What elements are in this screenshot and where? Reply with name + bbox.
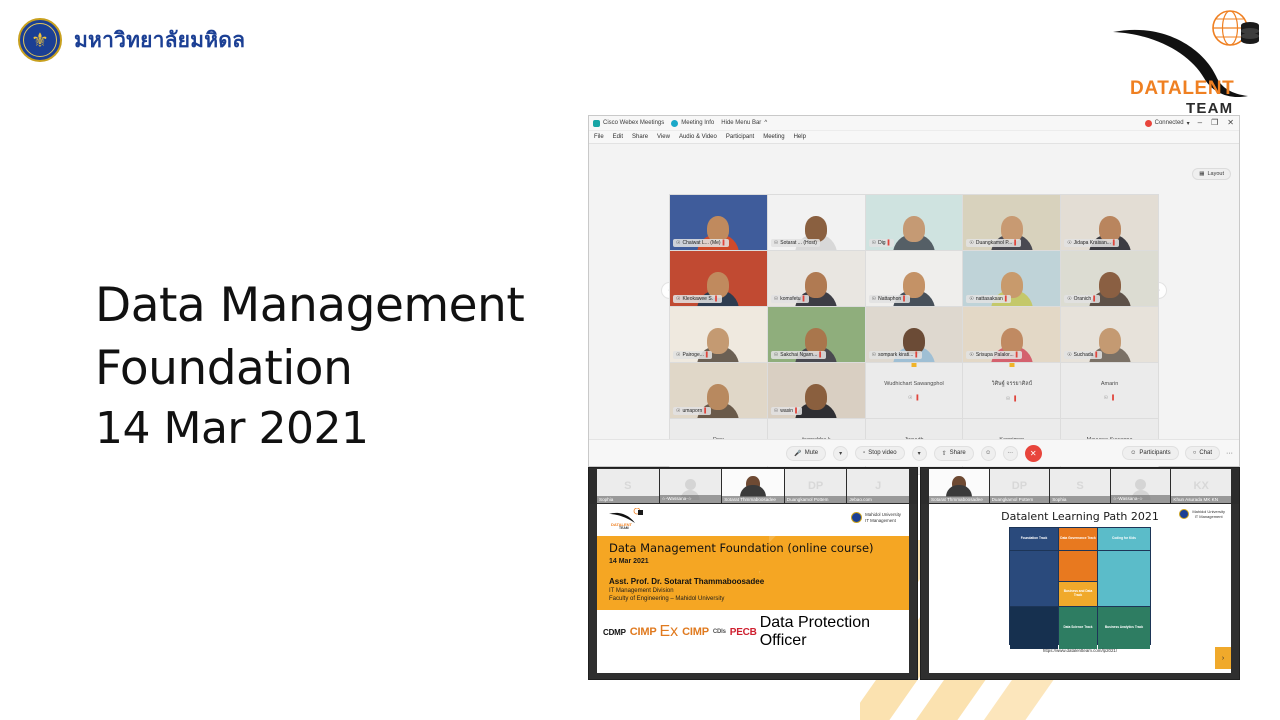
toolbar-more-icon[interactable]: ··· (1226, 450, 1233, 457)
diagram-data-science-track: Data Science Track (1059, 607, 1097, 649)
warning-flag-icon (1009, 363, 1014, 367)
menu-item-participant[interactable]: Participant (726, 134, 754, 140)
video-tile[interactable]: วิศิษฐ์ จรรยาศิลป์☉▌ (963, 363, 1060, 418)
menu-item-help[interactable]: Help (794, 134, 806, 140)
mu-line-2-right: IT Management (1192, 514, 1225, 519)
filmstrip-thumb[interactable]: SSophia (1050, 469, 1110, 503)
microphone-icon: ☉ (774, 352, 778, 358)
thumb-name: ☆-Wassana-☆ (1111, 495, 1171, 503)
microphone-icon: ☉ (1104, 395, 1108, 401)
chat-button[interactable]: ○ Chat (1185, 446, 1220, 460)
tile-nameplate: ☉komsfetu▌ (771, 295, 809, 303)
mute-options-caret[interactable]: ▾ (833, 446, 848, 461)
filmstrip-thumb[interactable]: Sotarat Thmmaboosadee (722, 469, 784, 503)
thumb-name: Sophia (1050, 496, 1110, 503)
tile-person-head (1099, 272, 1121, 298)
avatar: DP (1012, 480, 1027, 492)
learning-path-diagram: Foundation Track Data Governance Track C… (1009, 527, 1151, 645)
tile-status-icons: ☉▌ (908, 395, 920, 401)
mahidol-university-logo: ⚜ มหาวิทยาลัยมหิดล (18, 18, 245, 62)
video-tile[interactable]: ☉sompark kirati...▌ (866, 307, 963, 362)
slide-left-header: DATALENT TEAM Mahidol University IT Mana… (597, 504, 909, 536)
microphone-icon: ☉ (969, 240, 973, 246)
participant-name: Nattaphon (878, 296, 901, 302)
diagram-foundation-track: Foundation Track (1010, 528, 1058, 550)
microphone-icon: ☉ (676, 408, 680, 414)
participant-filmstrip-left: SSophia☆-Wassana-☆Sotarat ThmmaboosadeeD… (589, 468, 917, 504)
webex-menubar: File Edit Share View Audio & Video Parti… (589, 131, 1239, 144)
tile-nameplate: ☉Pairoge...▌ (673, 351, 712, 359)
microphone-icon: ☉ (969, 296, 973, 302)
participant-name: sompark kirati... (878, 352, 913, 358)
muted-icon: ▌ (1112, 395, 1116, 401)
video-tile[interactable]: ☉Suchada▌ (1061, 307, 1158, 362)
tile-person-head (707, 216, 729, 242)
tile-nameplate: ☉Sakchai Ngarn...▌ (771, 351, 826, 359)
video-tile[interactable]: Wudhichart Sawangphol☉▌ (866, 363, 963, 418)
avatar: DP (808, 480, 823, 492)
thumb-name: Duangkamol Pottem (785, 496, 847, 503)
video-tile[interactable]: ☉umaporn▌ (670, 363, 767, 418)
slide-next-button[interactable]: › (1215, 647, 1231, 669)
participant-name: Oranich (1074, 296, 1092, 302)
video-tile[interactable]: ☉Srisupa Palalor...▌ (963, 307, 1060, 362)
university-name: มหาวิทยาลัยมหิดล (74, 24, 245, 57)
tile-nameplate: ☉sompark kirati...▌ (869, 351, 922, 359)
video-tile[interactable]: ☉Kleokawee S.▌ (670, 251, 767, 306)
filmstrip-thumb[interactable]: DPDuangkamol Pottem (990, 469, 1050, 503)
video-tile[interactable]: ☉Jidapa Kraisan...▌ (1061, 195, 1158, 250)
tile-status-icons: ☉▌ (1006, 396, 1018, 402)
participant-name: Suchada (1074, 352, 1094, 358)
webex-meeting-window: Cisco Webex Meetings Meeting Info Hide M… (588, 115, 1240, 467)
share-icon: ⇧ (942, 450, 947, 457)
microphone-icon: ☉ (872, 296, 876, 302)
muted-icon: ▌ (795, 408, 799, 414)
tile-person-head (1099, 328, 1121, 354)
webex-video-stage: ▦ Layout ‹ › ☉Chaiwat L... (Me)▌☉Sotarat… (589, 144, 1239, 439)
mute-button[interactable]: 🎤 Mute (786, 446, 826, 461)
diagram-business-data-track: Business and Data Track (1059, 582, 1097, 606)
chevron-down-icon[interactable]: ▾ (1187, 120, 1190, 127)
microphone-icon: ☉ (774, 296, 778, 302)
shared-screen-panel-left: SSophia☆-Wassana-☆Sotarat ThmmaboosadeeD… (588, 467, 918, 680)
datalent-team-logo: DATALENT TEAM (1108, 8, 1268, 120)
participant-name: Wudhichart Sawangphol (884, 381, 944, 387)
microphone-icon: ☉ (1067, 240, 1071, 246)
layout-label: Layout (1207, 171, 1224, 177)
participant-name: umaporn (682, 408, 702, 414)
participants-button[interactable]: ☺ Participants (1122, 446, 1179, 460)
tile-person-head (805, 328, 827, 354)
tile-nameplate: ☉Chaiwat L... (Me)▌ (673, 239, 729, 247)
slide-datalent-logo: DATALENT TEAM (607, 508, 647, 530)
diagram-governance-sub (1059, 551, 1097, 581)
tile-person-head (1001, 272, 1023, 298)
participants-label: Participants (1139, 450, 1170, 456)
microphone-icon: ☉ (676, 240, 680, 246)
muted-icon: ▌ (723, 240, 727, 246)
tile-person-head (707, 328, 729, 354)
mu-line-1: Mahidol University (865, 512, 901, 518)
connection-status-label: Connected (1155, 120, 1184, 126)
tile-person-head (1001, 216, 1023, 242)
video-tile[interactable]: ☉Sotarat ... (Host) (768, 195, 865, 250)
meeting-info-button[interactable]: Meeting Info (671, 120, 714, 127)
participant-name: Dig (878, 240, 886, 246)
muted-icon: ▌ (1014, 240, 1018, 246)
microphone-icon: ☉ (872, 352, 876, 358)
thumb-name: Sotarat Thmmaboosadee (722, 496, 784, 503)
tile-person-head (903, 216, 925, 242)
avatar (1135, 479, 1146, 490)
participant-name: Chaiwat L... (Me) (682, 240, 720, 246)
menu-item-file[interactable]: File (594, 134, 604, 140)
menu-item-meeting[interactable]: Meeting (763, 134, 784, 140)
participant-name: Amarin (1101, 381, 1118, 387)
menu-item-view[interactable]: View (657, 134, 670, 140)
tile-nameplate: ☉Srisupa Palalor...▌ (966, 351, 1022, 359)
title-line-2: Foundation (95, 338, 565, 401)
diagram-coding-for-kids: Coding for Kids (1098, 528, 1150, 550)
participant-name: Pairoge... (682, 352, 703, 358)
maximize-button[interactable]: ❐ (1210, 119, 1219, 127)
camera-icon: ▫ (863, 450, 865, 456)
participant-name: wasin (780, 408, 793, 414)
slide-right: Datalent Learning Path 2021 Mahidol Univ… (929, 504, 1231, 673)
tile-person-head (707, 384, 729, 410)
tile-person-head (903, 328, 925, 354)
participant-name: วิศิษฐ์ จรรยาศิลป์ (992, 380, 1033, 388)
video-tile[interactable]: ☉Oranich▌ (1061, 251, 1158, 306)
chat-bubble-icon: ○ (1193, 450, 1197, 456)
filmstrip-thumb[interactable]: Sotarat Thmmaboosadee (929, 469, 989, 503)
tile-status-icons: ☉▌ (1104, 395, 1116, 401)
cimp-logo: CIMP (682, 626, 709, 638)
mahidol-seal-icon: ⚜ (18, 18, 62, 62)
chat-label: Chat (1199, 450, 1212, 456)
participant-name: Jidapa Kraisan... (1074, 240, 1111, 246)
slide-mahidol-it-logo-right: Mahidol University IT Management (1179, 509, 1225, 519)
menu-item-audio-video[interactable]: Audio & Video (679, 134, 717, 140)
muted-icon: ▌ (903, 296, 907, 302)
participant-name: nattasaksan (976, 296, 1003, 302)
participant-name: Duangkamol P... (976, 240, 1012, 246)
tile-nameplate: ☉Suchada▌ (1064, 351, 1102, 359)
share-button[interactable]: ⇧ Share (934, 446, 974, 461)
mu-line-2: IT Management (865, 518, 901, 524)
title-line-1: Data Management (95, 275, 565, 338)
participant-name: komsfetu (780, 296, 800, 302)
video-tile[interactable]: ☉wasin▌ (768, 363, 865, 418)
slide-right-header: Datalent Learning Path 2021 Mahidol Univ… (929, 504, 1231, 525)
stop-video-button[interactable]: ▫ Stop video (855, 446, 905, 460)
avatar: KX (1194, 480, 1209, 492)
webex-app-title: Cisco Webex Meetings (593, 120, 664, 127)
share-label: Share (950, 450, 966, 456)
tile-nameplate: ☉Jidapa Kraisan...▌ (1064, 239, 1119, 247)
pecb-sub: Data Protection Officer (760, 614, 903, 650)
video-tile[interactable]: ☉Dig▌ (866, 195, 963, 250)
muted-icon: ▌ (1016, 352, 1020, 358)
tile-person-head (805, 384, 827, 410)
stop-video-label: Stop video (868, 450, 896, 456)
muted-icon: ▌ (888, 240, 892, 246)
tile-person-head (805, 216, 827, 242)
microphone-icon: ☉ (774, 240, 778, 246)
filmstrip-thumb[interactable]: ☆-Wassana-☆ (1111, 469, 1171, 503)
video-tile[interactable]: ☉Chaiwat L... (Me)▌ (670, 195, 767, 250)
diagram-business-analytics-track: Business Analytics Track (1098, 607, 1150, 649)
muted-icon: ▌ (1095, 352, 1099, 358)
slide-title-band: Data Management Foundation (online cours… (597, 536, 909, 571)
muted-icon: ▌ (704, 408, 708, 414)
diagram-data-governance-track: Data Governance Track (1059, 528, 1097, 550)
pecb-logo: PECB Data Protection Officer (730, 614, 903, 650)
menu-item-share[interactable]: Share (632, 134, 648, 140)
muted-icon: ▌ (1014, 396, 1018, 402)
filmstrip-thumb[interactable]: DPDuangkamol Pottem (785, 469, 847, 503)
thumb-name: Sotarat Thmmaboosadee (929, 496, 989, 503)
filmstrip-thumb[interactable]: JJebao.com (847, 469, 909, 503)
participant-name: Sotarat ... (Host) (780, 240, 817, 246)
participant-name: Srisupa Palalor... (976, 352, 1014, 358)
grid-icon: ▦ (1199, 171, 1204, 177)
tile-nameplate: ☉wasin▌ (771, 407, 802, 415)
tile-nameplate: ☉Duangkamol P...▌ (966, 239, 1020, 247)
webex-app-name: Cisco Webex Meetings (603, 120, 664, 126)
muted-icon: ▌ (1005, 296, 1009, 302)
tile-person-head (707, 272, 729, 298)
pecb-text: PECB (730, 627, 757, 638)
microphone-icon: ☉ (872, 240, 876, 246)
mahidol-seal-icon-small-right (1179, 509, 1189, 519)
video-tile[interactable]: ☉komsfetu▌ (768, 251, 865, 306)
microphone-icon: ☉ (908, 395, 912, 401)
filmstrip-thumb[interactable]: ☆-Wassana-☆ (660, 469, 722, 503)
video-tile[interactable]: Amarin☉▌ (1061, 363, 1158, 418)
muted-icon: ▌ (916, 395, 920, 401)
muted-icon: ▌ (819, 352, 823, 358)
muted-icon: ▌ (803, 296, 807, 302)
avatar: J (875, 480, 881, 492)
mute-label: Mute (805, 450, 818, 456)
microphone-icon: ☉ (969, 352, 973, 358)
learning-path-url[interactable]: https://www.datalentteam.com/lp2021/ (929, 648, 1231, 653)
muted-icon: ▌ (915, 352, 919, 358)
presenter-faculty: Faculty of Engineering – Mahidol Univers… (609, 596, 897, 602)
title-date: 14 Mar 2021 (95, 400, 565, 459)
certification-logos: CDMP CIMP Ex CIMP CDIs PECB Data Protect… (597, 610, 909, 654)
microphone-icon: 🎤 (794, 450, 801, 457)
slide-mahidol-it-logo: Mahidol University IT Management (851, 512, 901, 523)
video-grid: ☉Chaiwat L... (Me)▌☉Sotarat ... (Host)☉D… (669, 194, 1159, 475)
reactions-button[interactable]: ☺ (981, 446, 996, 461)
presenter-name: Asst. Prof. Dr. Sotarat Thammaboosadee (609, 577, 897, 586)
participant-filmstrip-right: Sotarat ThmmaboosadeeDPDuangkamol Pottem… (921, 468, 1239, 504)
muted-icon: ▌ (1093, 296, 1097, 302)
tile-nameplate: ☉Dig▌ (869, 239, 895, 247)
tile-person-head (1001, 328, 1023, 354)
slide-brand-sub: TEAM (619, 526, 629, 530)
tile-person-head (903, 272, 925, 298)
tile-nameplate: ☉Kleokawee S.▌ (673, 295, 722, 303)
page-title: Data Management Foundation 14 Mar 2021 (95, 275, 565, 459)
datalent-wordmark: DATALENT (1130, 78, 1234, 100)
layout-button[interactable]: ▦ Layout (1192, 168, 1231, 180)
participant-name: Sakchai Ngarn... (780, 352, 817, 358)
muted-icon: ▌ (706, 352, 710, 358)
more-options-button[interactable]: ··· (1003, 446, 1018, 461)
video-options-caret[interactable]: ▾ (912, 446, 927, 461)
thumb-name: ☆-Wassana-☆ (660, 495, 722, 503)
presenter-division: IT Management Division (609, 588, 897, 594)
diagram-coding-sub (1098, 551, 1150, 606)
webex-control-toolbar: 🎤 Mute ▾ ▫ Stop video ▾ ⇧ Share ☺ ··· ✕ … (589, 439, 1239, 466)
microphone-icon: ☉ (1067, 352, 1071, 358)
menu-item-edit[interactable]: Edit (613, 134, 623, 140)
tile-nameplate: ☉nattasaksan▌ (966, 295, 1011, 303)
filmstrip-thumb[interactable]: SSophia (597, 469, 659, 503)
meeting-info-label: Meeting Info (681, 120, 714, 126)
filmstrip-thumb[interactable]: KXKhun Asurada MK KN (1171, 469, 1231, 503)
thumb-name: Jebao.com (847, 496, 909, 503)
cdis-logo: CDIs (713, 629, 726, 635)
diagram-left-block-3 (1010, 607, 1058, 649)
video-tile[interactable]: ☉Nattaphon▌ (866, 251, 963, 306)
info-icon (671, 120, 678, 127)
globe-database-icon (1208, 8, 1262, 54)
slide-title: Data Management Foundation (online cours… (609, 541, 897, 555)
avatar: S (624, 480, 631, 492)
muted-icon: ▌ (1113, 240, 1117, 246)
person-icon: ☺ (1130, 450, 1136, 456)
video-tile[interactable]: ☉nattasaksan▌ (963, 251, 1060, 306)
muted-icon: ▌ (715, 296, 719, 302)
microphone-icon: ☉ (676, 296, 680, 302)
webex-app-icon (593, 120, 600, 127)
mahidol-seal-icon-small (851, 512, 862, 523)
hide-menu-bar-label: Hide Menu Bar (721, 120, 761, 126)
thumb-name: Sophia (597, 496, 659, 503)
cimp-ex-logo: CIMP Ex (630, 623, 678, 641)
shared-screen-panel-right: Sotarat ThmmaboosadeeDPDuangkamol Pottem… (920, 467, 1240, 680)
avatar: S (1076, 480, 1083, 492)
tile-nameplate: ☉umaporn▌ (673, 407, 711, 415)
participant-name: Kleokawee S. (682, 296, 713, 302)
cdmp-logo: CDMP (603, 628, 626, 637)
slide-left: DATALENT TEAM Mahidol University IT Mana… (597, 504, 909, 673)
cimp-ex-text: CIMP (630, 626, 657, 638)
chevron-up-icon: ^ (764, 120, 767, 126)
status-dot-icon (1145, 120, 1152, 127)
hide-menu-bar-button[interactable]: Hide Menu Bar ^ (721, 120, 767, 126)
tile-nameplate: ☉Oranich▌ (1064, 295, 1100, 303)
minimize-button[interactable]: – (1197, 119, 1203, 127)
datalent-team-sub: TEAM (1186, 100, 1233, 117)
end-meeting-button[interactable]: ✕ (1025, 445, 1042, 462)
diagram-left-block-2 (1010, 551, 1058, 606)
video-grid-wrap: ☉Chaiwat L... (Me)▌☉Sotarat ... (Host)☉D… (669, 194, 1159, 475)
slide-presenter-band: Asst. Prof. Dr. Sotarat Thammaboosadee I… (597, 571, 909, 610)
microphone-icon: ☉ (774, 408, 778, 414)
video-tile[interactable]: ☉Pairoge...▌ (670, 307, 767, 362)
connection-status: Connected ▾ (1145, 120, 1190, 127)
tile-person-head (805, 272, 827, 298)
video-tile[interactable]: ☉Sakchai Ngarn...▌ (768, 307, 865, 362)
microphone-icon: ☉ (1067, 296, 1071, 302)
thumb-name: Khun Asurada MK KN (1171, 496, 1231, 503)
microphone-icon: ☉ (676, 352, 680, 358)
video-tile[interactable]: ☉Duangkamol P...▌ (963, 195, 1060, 250)
microphone-icon: ☉ (1006, 396, 1010, 402)
tile-nameplate: ☉Nattaphon▌ (869, 295, 910, 303)
thumb-name: Duangkamol Pottem (990, 496, 1050, 503)
slide-date: 14 Mar 2021 (609, 558, 897, 565)
tile-person-head (1099, 216, 1121, 242)
avatar (685, 479, 696, 490)
tile-nameplate: ☉Sotarat ... (Host) (771, 239, 820, 247)
close-button[interactable]: ✕ (1226, 119, 1235, 127)
warning-flag-icon (911, 363, 916, 367)
cimp-ex-sup: Ex (659, 623, 678, 641)
